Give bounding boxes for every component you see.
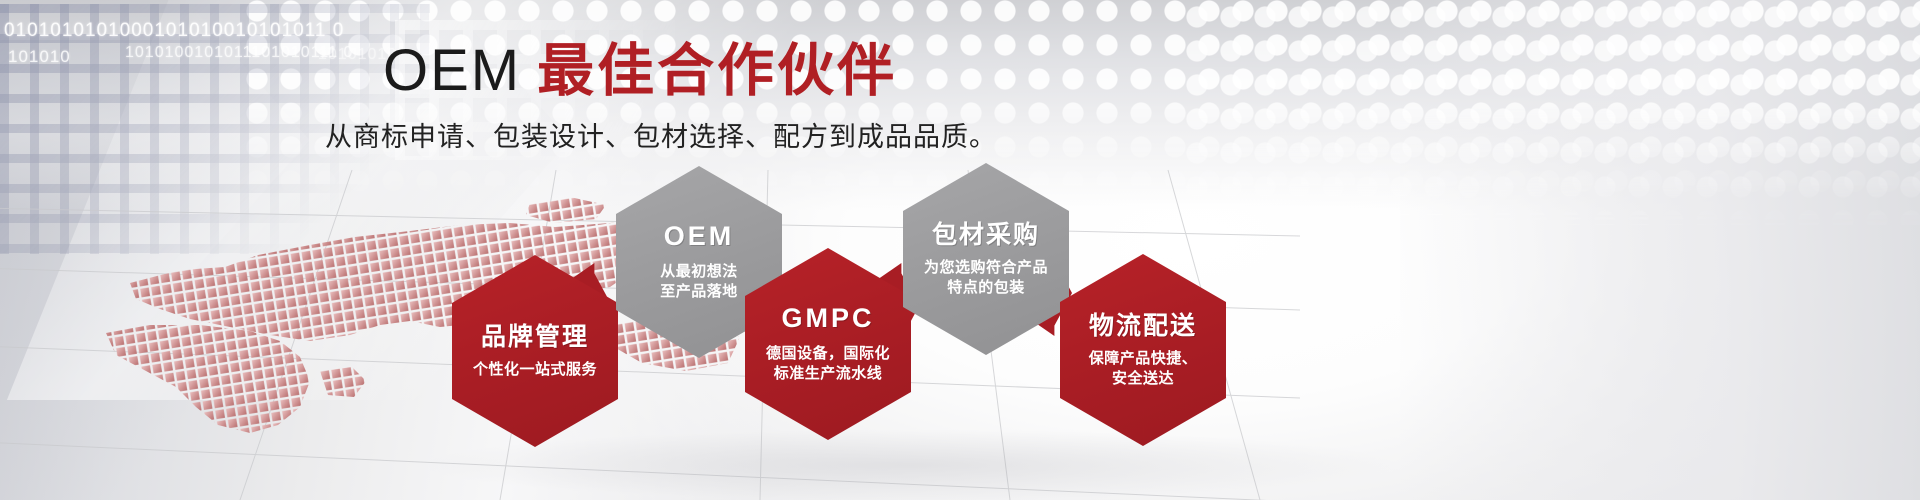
flow-step-subtitle: 为您选购符合产品 特点的包装 xyxy=(924,257,1048,298)
process-flow: 品牌管理 个性化一站式服务 OEM 从最初想法 至产品落地 GMPC 德国设备，… xyxy=(0,0,1920,500)
flow-step-subtitle-line1: 为您选购符合产品 xyxy=(924,257,1048,277)
oem-banner: 0101010101000101010010101011 0 101010 10… xyxy=(0,0,1920,500)
flow-step-subtitle: 德国设备，国际化 标准生产流水线 xyxy=(766,343,890,384)
flow-step-title: 品牌管理 xyxy=(481,323,589,351)
flow-step-subtitle: 个性化一站式服务 xyxy=(473,359,597,379)
flow-step-title: 包材采购 xyxy=(932,221,1040,249)
flow-step-subtitle-line1: 保障产品快捷、 xyxy=(1089,348,1198,368)
flow-step-subtitle: 从最初想法 至产品落地 xyxy=(660,261,738,302)
flow-step-title: OEM xyxy=(664,222,735,252)
flow-step-subtitle-line2: 安全送达 xyxy=(1089,368,1198,388)
flow-step-subtitle-line2: 标准生产流水线 xyxy=(766,363,890,383)
flow-step-title: 物流配送 xyxy=(1089,312,1197,340)
flow-step-logistics-delivery[interactable]: 物流配送 保障产品快捷、 安全送达 xyxy=(1060,254,1226,446)
flow-step-subtitle: 保障产品快捷、 安全送达 xyxy=(1089,348,1198,389)
flow-step-subtitle-line1: 德国设备，国际化 xyxy=(766,343,890,363)
flow-step-title: GMPC xyxy=(782,304,875,334)
flow-step-subtitle-line2: 特点的包装 xyxy=(924,277,1048,297)
flow-step-subtitle-line1: 从最初想法 xyxy=(660,261,738,281)
flow-step-subtitle-line2: 至产品落地 xyxy=(660,281,738,301)
